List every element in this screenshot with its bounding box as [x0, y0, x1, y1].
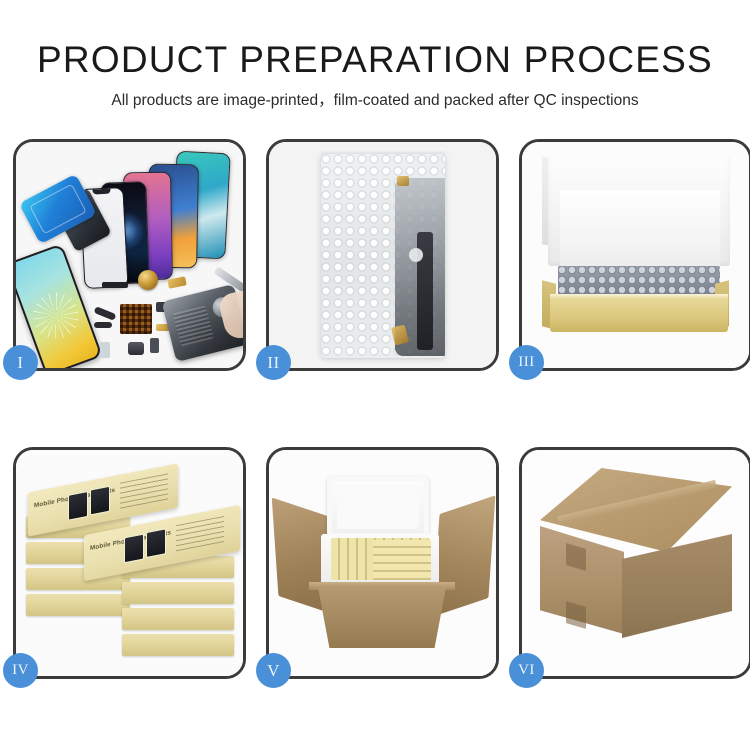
screen-connector	[409, 248, 423, 262]
white-foam-sheet	[560, 190, 720, 268]
bubble-wrap-bag	[321, 154, 445, 358]
step-5-image	[269, 450, 496, 676]
box-label-spec-lines	[176, 516, 224, 553]
process-step-panel-2[interactable]: II	[266, 139, 499, 371]
box-label-window	[146, 528, 166, 558]
styrofoam-lid	[327, 476, 429, 538]
step-badge-6: VI	[509, 653, 544, 688]
header: PRODUCT PREPARATION PROCESS All products…	[0, 38, 750, 112]
camera-lens-part	[138, 270, 158, 290]
step-badge-2: II	[256, 345, 291, 380]
stacked-box	[122, 634, 234, 656]
step-1-image	[16, 142, 243, 368]
process-step-panel-6[interactable]: VI	[519, 447, 750, 679]
page-subtitle: All products are image-printed，film-coat…	[0, 90, 750, 112]
box-label-window	[90, 486, 110, 516]
step-badge-4: IV	[3, 653, 38, 688]
flex-cable-part	[94, 322, 112, 328]
stacked-box	[26, 594, 130, 616]
step-4-image: Mobile Phone Spare Parts Mobile Phone Sp…	[16, 450, 243, 676]
earpiece-part	[128, 342, 144, 355]
process-step-panel-1[interactable]: I	[13, 139, 246, 371]
process-step-panel-3[interactable]: III	[519, 139, 750, 371]
stacked-box	[122, 608, 234, 630]
sim-tray-part	[100, 342, 110, 358]
box-label-spec-lines	[120, 473, 168, 510]
process-step-grid: I II	[13, 139, 737, 679]
step-3-image	[522, 142, 749, 368]
process-step-panel-5[interactable]: V	[266, 447, 499, 679]
gold-tab	[397, 176, 409, 186]
speaker-mesh-part	[102, 282, 128, 288]
box-stack: Mobile Phone Spare Parts Mobile Phone Sp…	[22, 460, 242, 670]
yellow-boxes-row	[373, 540, 431, 580]
step-badge-3: III	[509, 345, 544, 380]
kraft-box-front	[550, 298, 728, 332]
box-label-window	[68, 491, 88, 521]
stacked-box	[122, 582, 234, 604]
chip-array-part	[120, 304, 152, 334]
process-step-panel-4[interactable]: Mobile Phone Spare Parts Mobile Phone Sp…	[13, 447, 246, 679]
carton-front	[309, 586, 455, 648]
step-badge-5: V	[256, 653, 291, 688]
step-badge-1: I	[3, 345, 38, 380]
battery-connector-part	[150, 338, 159, 353]
page-title: PRODUCT PREPARATION PROCESS	[0, 38, 750, 82]
step-6-image	[522, 450, 749, 676]
step-2-image	[269, 142, 496, 368]
box-label-window	[124, 533, 144, 563]
product-preparation-infographic: PRODUCT PREPARATION PROCESS All products…	[0, 0, 750, 750]
